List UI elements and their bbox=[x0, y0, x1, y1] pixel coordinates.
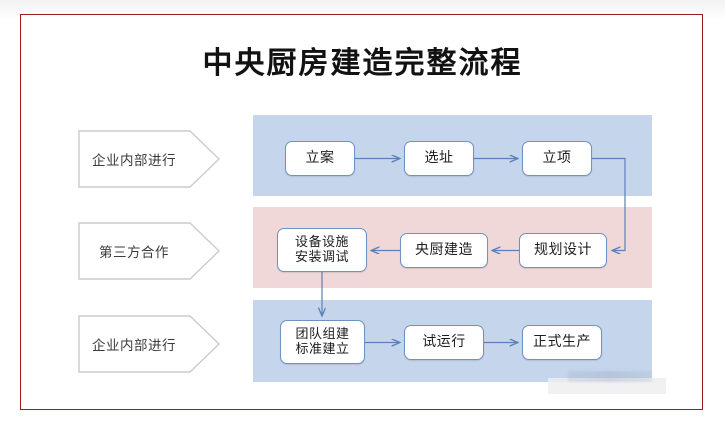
flow-node-shebei-anzhuang-label: 设备设施 安装调试 bbox=[295, 235, 349, 265]
stage-label-2[interactable]: 第三方合作 bbox=[78, 222, 226, 280]
flow-node-tuandui-zujian-label: 团队组建 标准建立 bbox=[295, 327, 349, 357]
watermark-text bbox=[568, 371, 652, 382]
stage-label-3-text: 企业内部进行 bbox=[78, 315, 190, 373]
flow-node-shiyunxing-label: 试运行 bbox=[422, 335, 466, 350]
flow-node-guihua-sheji[interactable]: 规划设计 bbox=[519, 233, 607, 268]
flow-node-xuanzhi[interactable]: 选址 bbox=[404, 141, 474, 176]
flow-node-yangchu-jianzao[interactable]: 央厨建造 bbox=[400, 233, 488, 268]
flow-node-guihua-sheji-label: 规划设计 bbox=[534, 243, 592, 258]
flow-node-yangchu-jianzao-label: 央厨建造 bbox=[415, 243, 473, 258]
page-title: 中央厨房建造完整流程 bbox=[0, 38, 725, 82]
flow-node-xuanzhi-label: 选址 bbox=[425, 151, 454, 166]
stage-label-3[interactable]: 企业内部进行 bbox=[78, 315, 226, 373]
stage-label-1-text: 企业内部进行 bbox=[78, 130, 190, 188]
stage-label-2-text: 第三方合作 bbox=[78, 222, 190, 280]
flow-node-lixiang-label: 立项 bbox=[543, 151, 572, 166]
slide-canvas: 中央厨房建造完整流程 企业内部进行 第三方合作 企业内部进行 bbox=[0, 0, 725, 422]
flow-node-lixiang[interactable]: 立项 bbox=[522, 141, 592, 176]
stage-label-1[interactable]: 企业内部进行 bbox=[78, 130, 226, 188]
flow-node-liuan[interactable]: 立案 bbox=[285, 141, 355, 176]
flow-node-shiyunxing[interactable]: 试运行 bbox=[404, 325, 484, 360]
flow-node-tuandui-zujian[interactable]: 团队组建 标准建立 bbox=[280, 320, 365, 364]
flow-node-shebei-anzhuang[interactable]: 设备设施 安装调试 bbox=[277, 228, 367, 272]
flow-node-zhengshi-shengchan-label: 正式生产 bbox=[533, 335, 591, 350]
flow-node-liuan-label: 立案 bbox=[306, 151, 335, 166]
flow-node-zhengshi-shengchan[interactable]: 正式生产 bbox=[522, 325, 602, 360]
